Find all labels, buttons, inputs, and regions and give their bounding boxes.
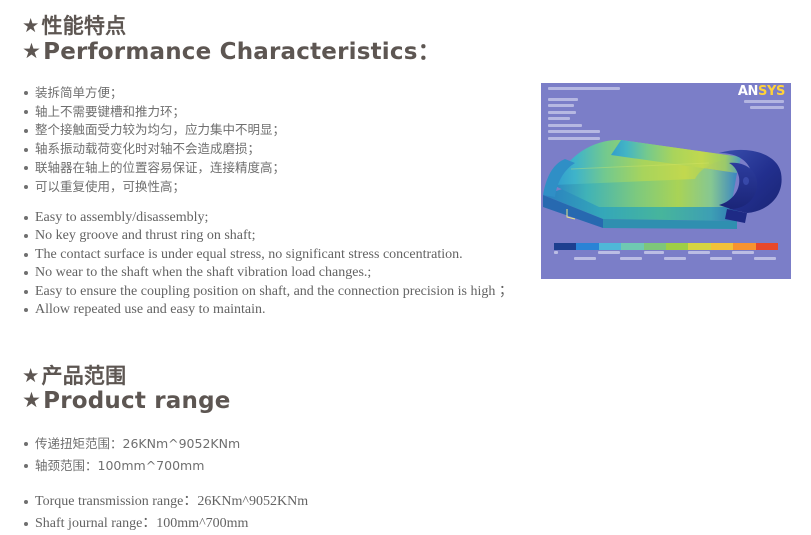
list-item: No key groove and thrust ring on shaft; <box>22 227 530 246</box>
product-range-heading-cn-text: 产品范围 <box>42 364 127 388</box>
list-item: 轴上不需要键槽和推力环； <box>22 103 530 122</box>
performance-heading-cn: ★性能特点 <box>22 14 530 39</box>
product-range-bullets-cn: 传递扭矩范围：26KNm^9052KNm 轴颈范围：100mm^700mm <box>22 433 530 477</box>
fea-model-geometry <box>541 129 791 237</box>
list-item: 轴系振动载荷变化时对轴不会造成磨损； <box>22 140 530 159</box>
list-item: 轴颈范围：100mm^700mm <box>22 455 530 477</box>
list-item: The contact surface is under equal stres… <box>22 246 530 265</box>
list-item: 传递扭矩范围：26KNm^9052KNm <box>22 433 530 455</box>
legend-tick-labels <box>554 251 778 263</box>
performance-bullets-cn: 装拆简单方便； 轴上不需要键槽和推力环； 整个接触面受力较为均匀，应力集中不明显… <box>22 84 530 197</box>
list-item: 整个接触面受力较为均匀，应力集中不明显； <box>22 121 530 140</box>
list-item: Torque transmission range：26KNm^9052KNm <box>22 491 530 513</box>
fea-viewport: ANSYS <box>541 83 791 279</box>
legend-color-bar <box>554 243 778 250</box>
text-content-column: ★性能特点 ★Performance Characteristics： 装拆简单… <box>0 0 530 535</box>
performance-heading-group: ★性能特点 ★Performance Characteristics： <box>22 14 530 66</box>
fea-color-legend <box>554 243 778 263</box>
section-product-range: ★产品范围 ★Product range 传递扭矩范围：26KNm^9052KN… <box>22 364 530 535</box>
performance-heading-en-text: Performance Characteristics： <box>43 39 441 65</box>
performance-heading-en: ★Performance Characteristics： <box>22 39 530 66</box>
product-range-heading-en-text: Product range <box>43 388 230 414</box>
page-root: ★性能特点 ★Performance Characteristics： 装拆简单… <box>0 0 811 477</box>
star-icon: ★ <box>22 15 40 38</box>
list-item: 联轴器在轴上的位置容易保证，连接精度高； <box>22 159 530 178</box>
list-item: No wear to the shaft when the shaft vibr… <box>22 264 530 283</box>
product-range-heading-en: ★Product range <box>22 388 530 415</box>
product-range-bullets-en: Torque transmission range：26KNm^9052KNm … <box>22 491 530 535</box>
list-item: 可以重复使用，可换性高； <box>22 178 530 197</box>
list-item: Easy to ensure the coupling position on … <box>22 283 530 302</box>
star-icon: ★ <box>22 365 40 388</box>
section-performance: ★性能特点 ★Performance Characteristics： 装拆简单… <box>22 14 530 320</box>
star-icon: ★ <box>22 39 41 64</box>
ansys-logo-an: AN <box>738 84 758 99</box>
list-item: 装拆简单方便； <box>22 84 530 103</box>
list-item: Allow repeated use and easy to maintain. <box>22 301 530 320</box>
list-item: Shaft journal range：100mm^700mm <box>22 513 530 535</box>
performance-heading-cn-text: 性能特点 <box>42 14 127 38</box>
performance-bullets-en: Easy to assembly/disassembly; No key gro… <box>22 209 530 320</box>
product-range-heading-group: ★产品范围 ★Product range <box>22 364 530 416</box>
ansys-logo: ANSYS <box>738 85 785 98</box>
ansys-logo-sys: SYS <box>758 84 785 99</box>
ansys-stress-analysis-image: ANSYS <box>541 83 791 279</box>
fea-timestamp-text <box>744 100 784 112</box>
star-icon: ★ <box>22 388 41 413</box>
product-range-heading-cn: ★产品范围 <box>22 364 530 389</box>
list-item: Easy to assembly/disassembly; <box>22 209 530 228</box>
